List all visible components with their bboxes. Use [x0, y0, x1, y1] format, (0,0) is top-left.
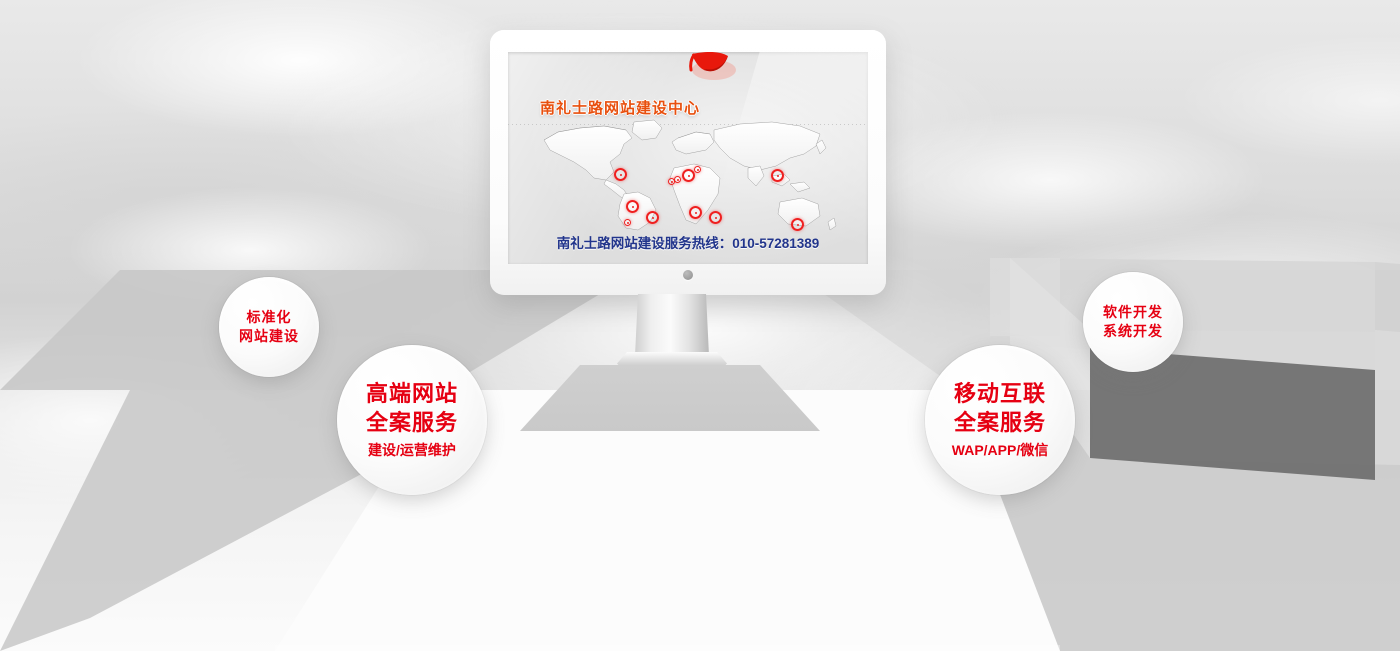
promo-banner: 南礼士路网站建设中心: [0, 0, 1400, 651]
map-marker-australia: [791, 218, 804, 231]
map-marker-south-america-south: [624, 219, 631, 226]
map-marker-east-asia: [771, 169, 784, 182]
map-marker-europe-west: [682, 169, 695, 182]
bubble-line3: 建设/运营维护: [368, 440, 456, 461]
monitor: 南礼士路网站建设中心: [490, 30, 886, 295]
map-marker-europe-central: [694, 166, 701, 173]
map-marker-south-america-north: [626, 200, 639, 213]
red-ribbon-icon: [684, 52, 738, 86]
bubble-standard-website[interactable]: 标准化 网站建设: [219, 277, 319, 377]
bubble-line1: 高端网站: [366, 379, 458, 408]
map-marker-north-africa: [668, 178, 675, 185]
bubble-line1: 软件开发: [1103, 303, 1163, 322]
map-marker-east-africa: [709, 211, 722, 224]
monitor-logo-dot-icon: [683, 270, 693, 280]
monitor-screen: 南礼士路网站建设中心: [508, 52, 868, 264]
bubble-line2: 系统开发: [1103, 322, 1163, 341]
map-marker-iberia: [674, 176, 681, 183]
screen-hotline: 南礼士路网站建设服务热线：010-57281389: [508, 232, 868, 252]
bubble-line3: WAP/APP/微信: [952, 440, 1048, 461]
monitor-stand-neck: [635, 294, 709, 356]
bubble-software-development[interactable]: 软件开发 系统开发: [1083, 272, 1183, 372]
bubble-mobile-internet[interactable]: 移动互联 全案服务 WAP/APP/微信: [925, 345, 1075, 495]
map-marker-north-america: [614, 168, 627, 181]
map-marker-south-america-east: [646, 211, 659, 224]
bubble-line1: 移动互联: [954, 379, 1046, 408]
bubble-line2: 全案服务: [954, 408, 1046, 437]
map-marker-west-africa: [689, 206, 702, 219]
bubble-line1: 标准化: [247, 308, 292, 327]
bubble-line2: 网站建设: [239, 327, 299, 346]
bubble-high-end-website[interactable]: 高端网站 全案服务 建设/运营维护: [337, 345, 487, 495]
bubble-line2: 全案服务: [366, 408, 458, 437]
